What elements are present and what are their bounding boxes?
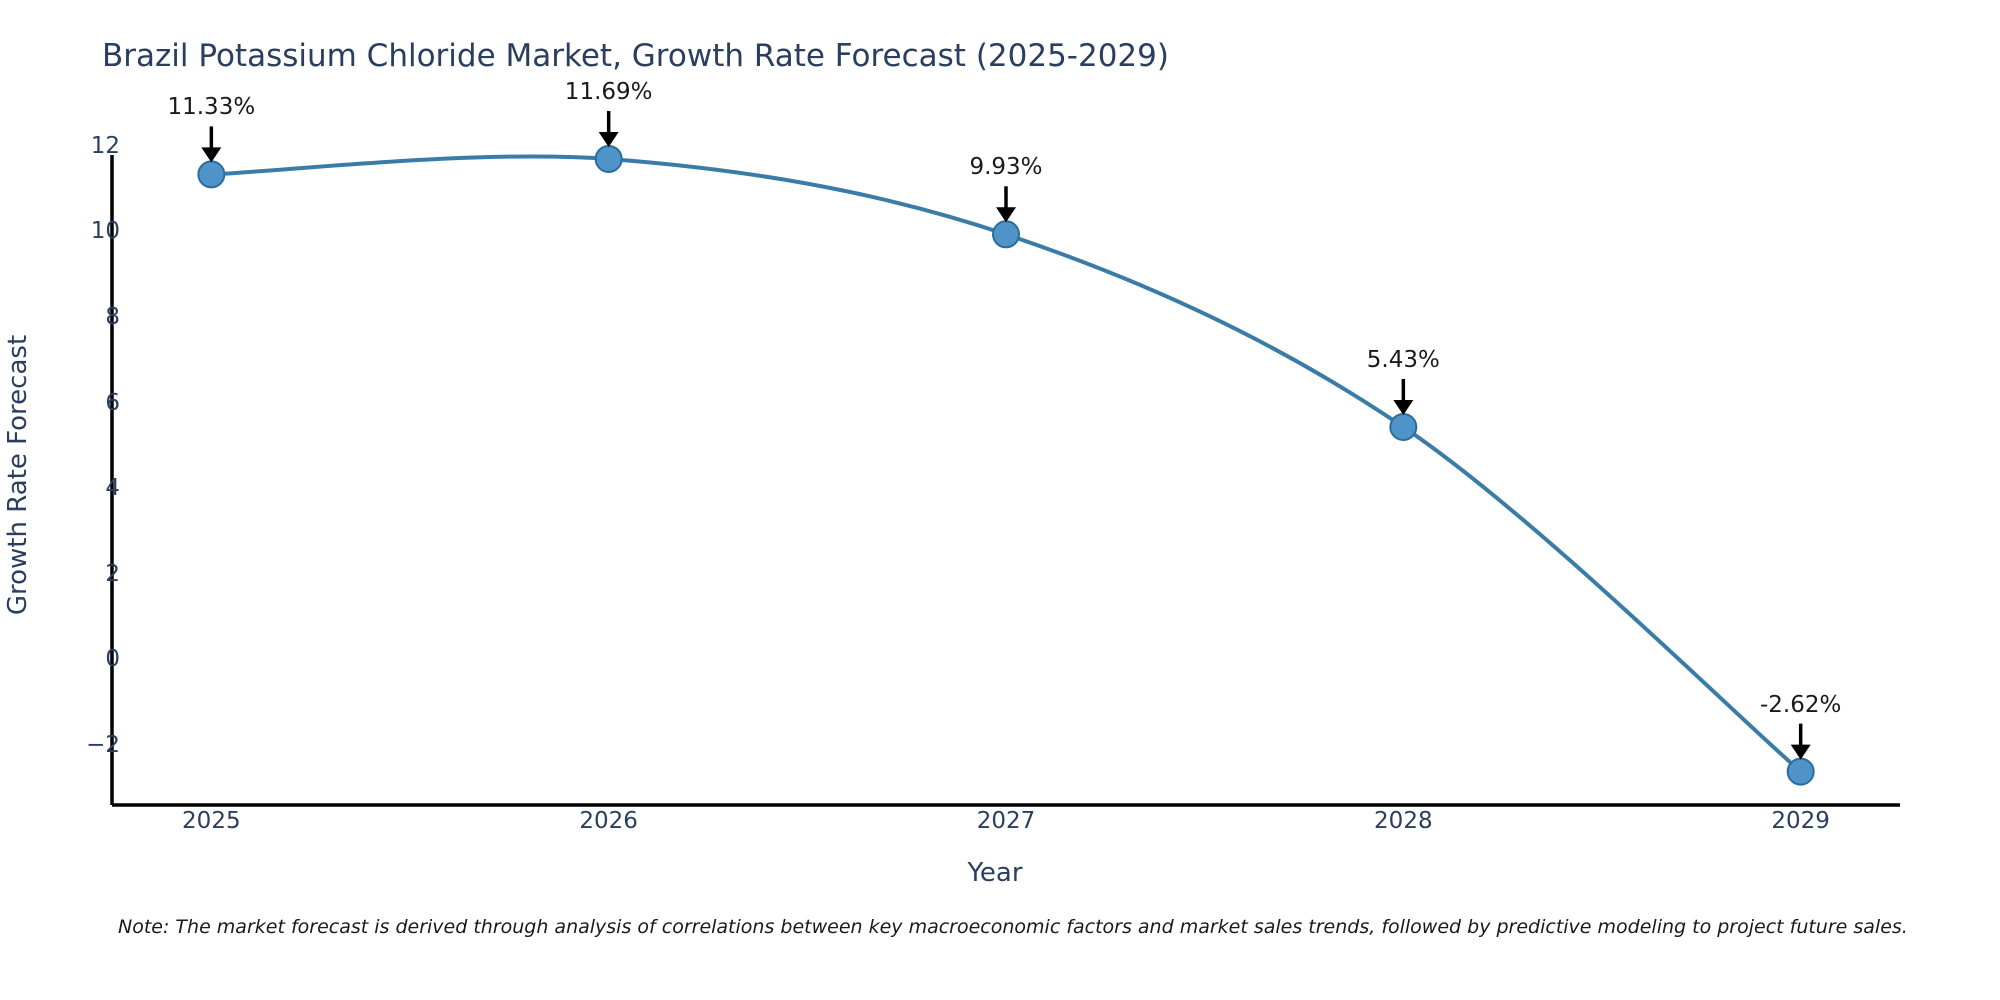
x-tick-label: 2026 bbox=[509, 808, 709, 834]
data-point-marker[interactable] bbox=[596, 146, 622, 172]
annotation-arrow-head bbox=[1791, 745, 1811, 760]
chart-footnote: Note: The market forecast is derived thr… bbox=[118, 916, 1908, 938]
annotation-arrow-head bbox=[201, 147, 221, 162]
annotation-arrow-head bbox=[599, 132, 619, 147]
y-tick-label: 8 bbox=[0, 304, 120, 330]
x-tick-label: 2029 bbox=[1701, 808, 1901, 834]
series-line bbox=[211, 156, 1800, 771]
data-point-marker[interactable] bbox=[1390, 414, 1416, 440]
x-tick-label: 2027 bbox=[906, 808, 1106, 834]
data-point-label: 9.93% bbox=[969, 154, 1042, 180]
data-point-label: -2.62% bbox=[1760, 692, 1841, 718]
plot-area bbox=[0, 0, 2000, 1000]
annotation-arrow-head bbox=[1393, 400, 1413, 415]
y-tick-label: 2 bbox=[0, 561, 120, 587]
data-point-label: 11.69% bbox=[565, 79, 653, 105]
annotation-arrows bbox=[201, 111, 1810, 760]
y-tick-label: 4 bbox=[0, 475, 120, 501]
data-point-marker[interactable] bbox=[198, 161, 224, 187]
y-tick-label: −2 bbox=[0, 732, 120, 758]
y-tick-label: 12 bbox=[0, 133, 120, 159]
y-tick-label: 10 bbox=[0, 218, 120, 244]
data-point-marker[interactable] bbox=[1788, 759, 1814, 785]
data-point-marker[interactable] bbox=[993, 221, 1019, 247]
annotation-arrow-head bbox=[996, 207, 1016, 222]
x-tick-label: 2028 bbox=[1303, 808, 1503, 834]
y-tick-label: 0 bbox=[0, 646, 120, 672]
data-point-label: 5.43% bbox=[1367, 347, 1440, 373]
chart-figure: Brazil Potassium Chloride Market, Growth… bbox=[0, 0, 2000, 1000]
x-tick-label: 2025 bbox=[111, 808, 311, 834]
y-tick-label: 6 bbox=[0, 390, 120, 416]
y-axis-tick-labels: 121086420−2 bbox=[0, 0, 120, 1000]
x-axis-title: Year bbox=[0, 858, 1990, 888]
data-point-label: 11.33% bbox=[167, 94, 255, 120]
series-line-path bbox=[211, 156, 1800, 771]
series-markers bbox=[198, 146, 1813, 785]
